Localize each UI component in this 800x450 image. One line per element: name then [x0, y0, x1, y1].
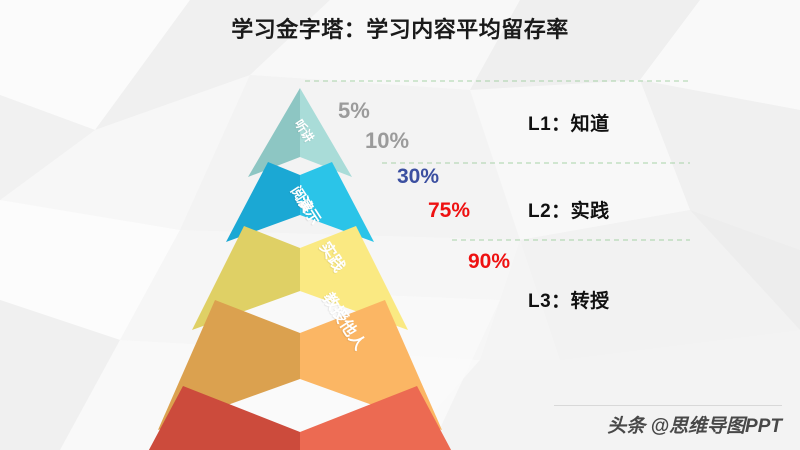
pyramid-layer-face-left [226, 162, 300, 242]
pyramid-layer-教授他人[interactable] [118, 386, 482, 450]
pyramid-layer-听讲[interactable] [248, 88, 352, 177]
learning-pyramid [0, 0, 800, 450]
annotation-l1: L1：知道 [528, 109, 610, 136]
pyramid-layer-face-left [248, 88, 300, 177]
watermark-text: 头条 @思维导图PPT [607, 411, 782, 438]
value-label-听讲: 5% [338, 98, 370, 124]
slide-canvas: 学习金字塔：学习内容平均留存率 [0, 0, 800, 450]
annotation-l2: L2：实践 [528, 196, 610, 223]
value-label-阅读: 10% [365, 128, 409, 154]
annotation-l3: L3：转授 [528, 286, 610, 313]
value-label-实践: 75% [428, 199, 470, 223]
value-label-演示: 30% [397, 165, 439, 189]
watermark-divider [554, 405, 782, 406]
value-label-教授他人: 90% [468, 250, 510, 274]
pyramid-layer-face-right [300, 162, 374, 242]
